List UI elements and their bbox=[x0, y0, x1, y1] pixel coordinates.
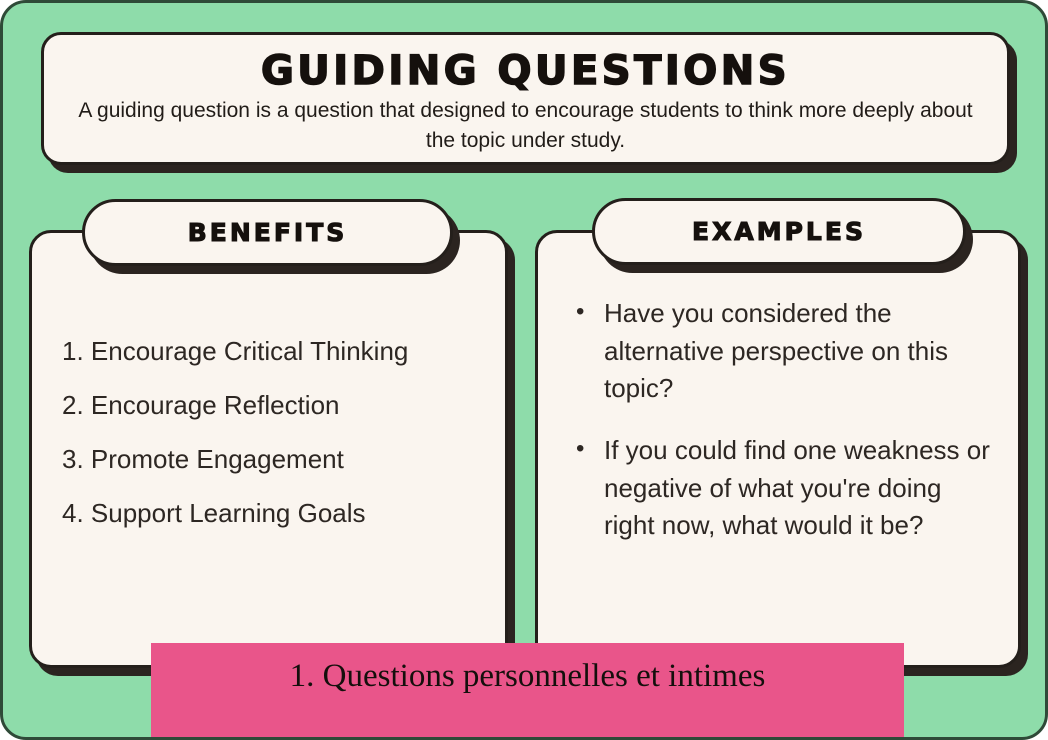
poster-subtitle: A guiding question is a question that de… bbox=[68, 96, 983, 156]
benefits-list: 1. Encourage Critical Thinking 2. Encour… bbox=[62, 337, 485, 553]
poster-canvas: GUIDING QUESTIONS A guiding question is … bbox=[0, 0, 1048, 740]
list-item: If you could find one weakness or negati… bbox=[566, 432, 996, 545]
examples-list: Have you considered the alternative pers… bbox=[566, 295, 996, 569]
list-item: 1. Encourage Critical Thinking bbox=[62, 337, 485, 365]
benefits-tab-label: BENEFITS bbox=[188, 220, 348, 245]
list-item: Have you considered the alternative pers… bbox=[566, 295, 996, 408]
list-item: 4. Support Learning Goals bbox=[62, 499, 485, 527]
caption-text: 1. Questions personnelles et intimes bbox=[290, 657, 766, 696]
list-item: 2. Encourage Reflection bbox=[62, 391, 485, 419]
benefits-tab: BENEFITS bbox=[82, 199, 453, 266]
caption-banner: 1. Questions personnelles et intimes bbox=[151, 643, 904, 740]
header-card: GUIDING QUESTIONS A guiding question is … bbox=[41, 32, 1010, 165]
examples-tab: EXAMPLES bbox=[592, 198, 966, 265]
examples-card: Have you considered the alternative pers… bbox=[535, 230, 1021, 668]
examples-tab-label: EXAMPLES bbox=[692, 219, 866, 244]
list-item: 3. Promote Engagement bbox=[62, 445, 485, 473]
page-title: GUIDING QUESTIONS bbox=[261, 50, 790, 92]
benefits-card: 1. Encourage Critical Thinking 2. Encour… bbox=[29, 230, 508, 668]
